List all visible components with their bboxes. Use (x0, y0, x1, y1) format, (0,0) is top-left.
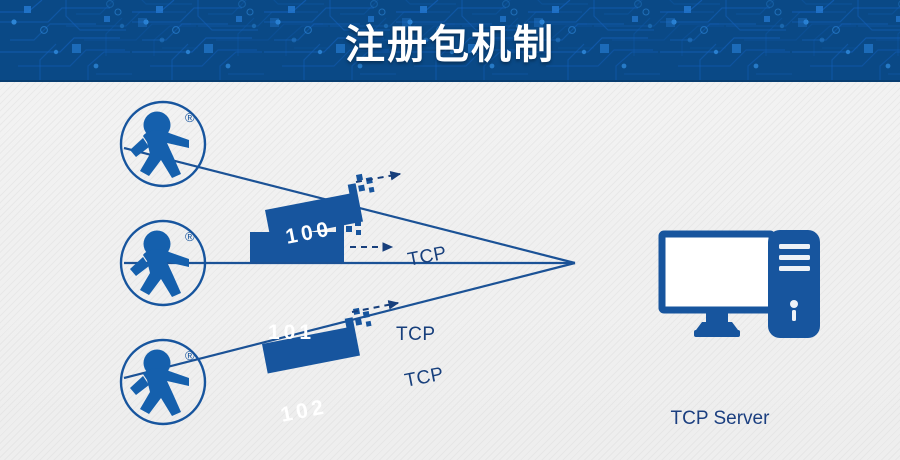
device-module-figure-icon-3[interactable] (121, 340, 205, 424)
tcp-server-label: TCP Server (628, 408, 812, 430)
network-flow-diagram: ® (0, 82, 900, 460)
page-title: 注册包机制 (0, 0, 900, 82)
header-banner: 注册包机制 (0, 0, 900, 82)
tcp-server-icon[interactable] (662, 230, 820, 338)
diagram-body: ® (0, 82, 900, 460)
packet-id-device-2: 101 (268, 321, 315, 345)
device-module-figure-icon-1[interactable] (121, 102, 205, 186)
diagram-stage: 注册包机制 ® (0, 0, 900, 460)
protocol-label-device-2: TCP (396, 324, 436, 346)
